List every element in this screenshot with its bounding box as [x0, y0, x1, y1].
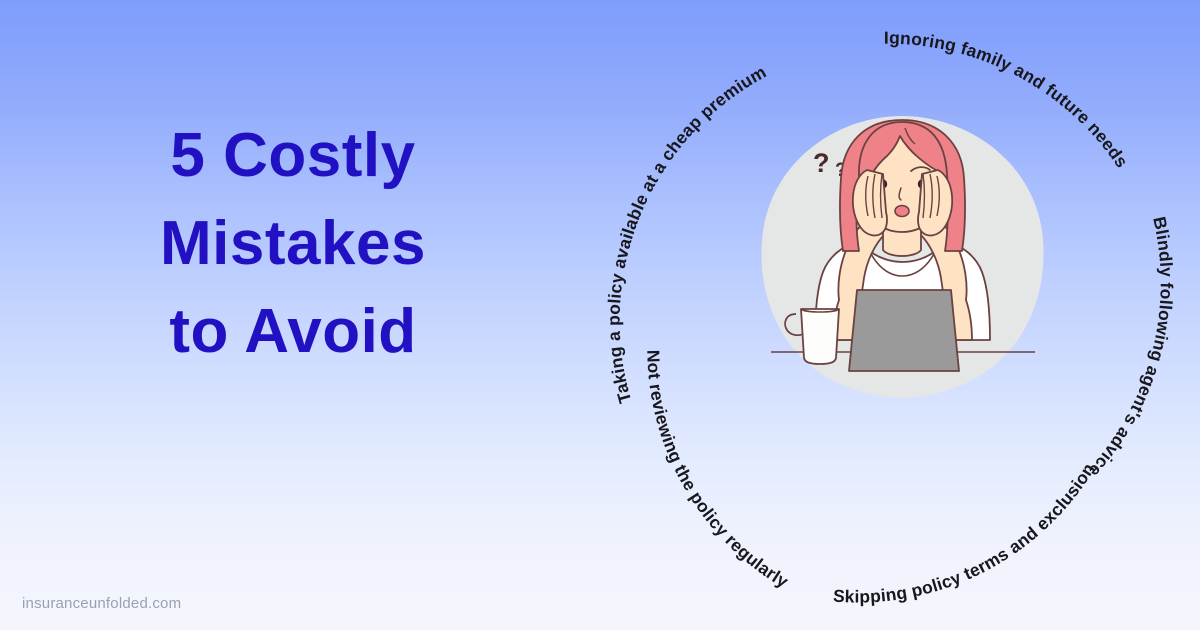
confused-woman-illustration: ? ? — [755, 108, 1050, 408]
ring-label-blindly-following-agent: Blindly following agent's advice — [1085, 215, 1177, 481]
ring-label-blindly-following-agent-text: Blindly following agent's advice — [1085, 215, 1177, 481]
headline-line-3: to Avoid — [58, 288, 528, 376]
mouth — [895, 206, 909, 217]
svg-text:?: ? — [813, 148, 830, 178]
laptop — [849, 290, 959, 371]
question-mark-icon-large: ? — [813, 148, 830, 178]
ring-label-taking-cheap-premium-text: Taking a policy available at a cheap pre… — [604, 62, 770, 406]
site-watermark: insuranceunfolded.com — [22, 595, 181, 612]
ring-label-taking-cheap-premium: Taking a policy available at a cheap pre… — [604, 62, 770, 406]
headline-line-1: 5 Costly — [58, 112, 528, 200]
page-title: 5 Costly Mistakes to Avoid — [58, 112, 528, 376]
poster-canvas: 5 Costly Mistakes to Avoid Taking a poli… — [0, 0, 1200, 630]
headline-line-2: Mistakes — [58, 200, 528, 288]
